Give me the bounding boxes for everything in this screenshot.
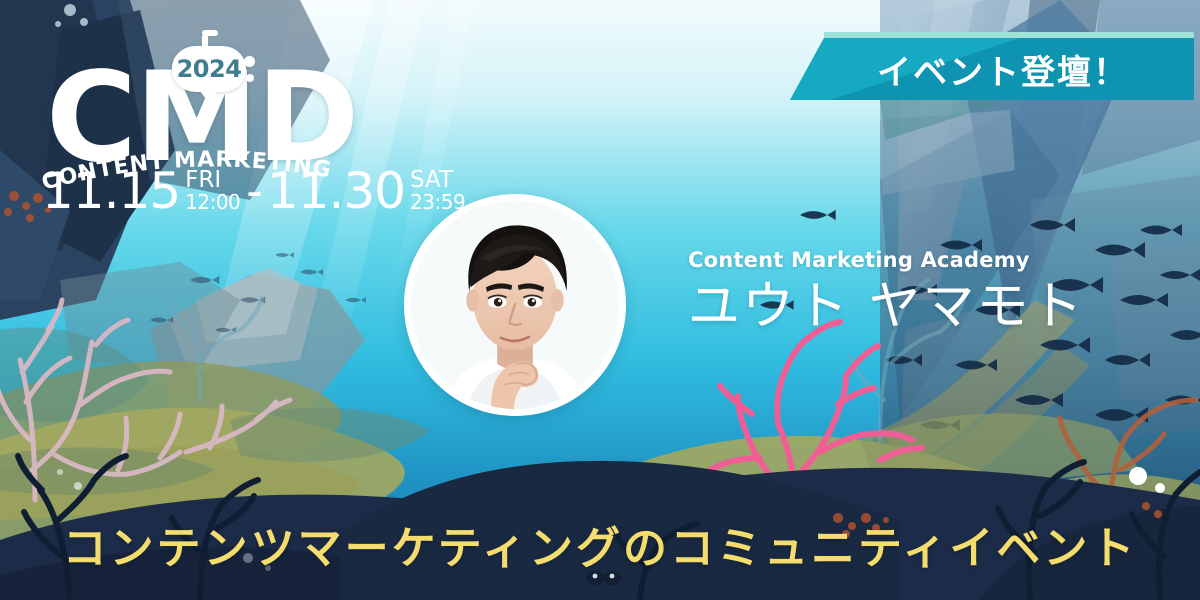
- date-separator: -: [246, 170, 263, 212]
- start-time: 12:00: [185, 192, 240, 212]
- year-tag-label: 2024: [177, 55, 242, 83]
- event-tagline: コンテンツマーケティングのコミュニティイベント: [0, 512, 1200, 576]
- speaker-organization: Content Marketing Academy: [688, 248, 1085, 272]
- speaker-info: Content Marketing Academy ユウト ヤマモト: [688, 248, 1085, 336]
- end-date: 11.30: [267, 168, 405, 214]
- year-tag: 2024: [172, 46, 246, 92]
- event-date-range: 11.15 FRI 12:00 - 11.30 SAT 23:59: [42, 168, 465, 214]
- speaker-name: ユウト ヤマモト: [688, 278, 1085, 336]
- year-tag-knob-large: [244, 56, 255, 67]
- speaker-portrait-illustration: [411, 201, 619, 409]
- year-tag-stem-cross: [202, 30, 218, 36]
- end-day-of-week: SAT: [410, 170, 465, 192]
- speaker-portrait: [404, 194, 626, 416]
- badge-label: イベント登壇！: [790, 38, 1194, 100]
- year-tag-knob-small: [246, 74, 254, 82]
- start-date: 11.15: [42, 168, 180, 214]
- event-speaking-badge: イベント登壇！: [790, 38, 1194, 100]
- start-day-of-week: FRI: [185, 170, 240, 192]
- event-banner: CMD 2024 CONTENT MARKETING DAY 11.15 FRI…: [0, 0, 1200, 600]
